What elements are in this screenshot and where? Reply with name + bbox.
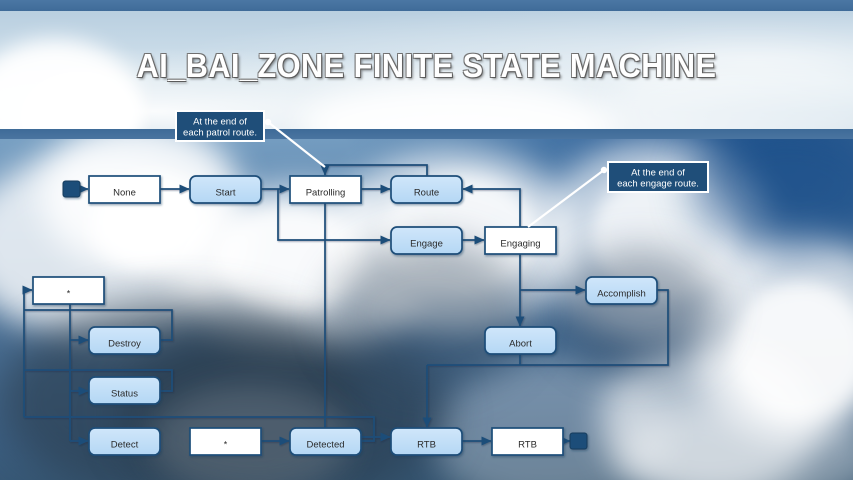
node-engaging-label: Engaging [500,239,540,250]
node-accomplish[interactable]: Accomplish [586,277,657,304]
edge-return-wildcard [24,290,32,417]
node-engage-label: Engage [410,239,443,250]
callout-engage-line1: At the end of [631,168,685,179]
node-none-label: None [113,188,136,199]
node-abort[interactable]: Abort [485,327,556,354]
callout-engage-leader-line [528,170,604,227]
callout-patrol-leader-dot [265,119,271,125]
node-wildcard-1[interactable]: * [33,277,104,304]
node-start[interactable]: Start [190,176,261,203]
node-route-label: Route [414,188,439,199]
edge-engaging-route [463,189,520,227]
node-destroy-label: Destroy [108,339,141,350]
edge-route-patrolling [325,165,427,176]
slide-canvas: AI_BAI_ZONE FINITE STATE MACHINE [0,0,853,480]
node-wildcard-2[interactable]: * [190,428,261,455]
node-abort-label: Abort [509,339,532,350]
node-engage[interactable]: Engage [391,227,462,254]
callout-engage-leader-dot [601,167,607,173]
callout-patrol-leader-line [268,122,325,167]
node-detected-label: Detected [306,440,344,451]
node-patrolling[interactable]: Patrolling [290,176,361,203]
callout-patrol[interactable]: At the end of each patrol route. [176,111,325,167]
node-status[interactable]: Status [89,377,160,404]
node-wildcard-1-label: * [67,288,71,298]
node-destroy[interactable]: Destroy [89,327,160,354]
callout-patrol-line2: each patrol route. [183,128,257,139]
node-start-label: Start [215,188,235,199]
node-detect-label: Detect [111,440,139,451]
end-terminal[interactable] [570,433,587,449]
state-machine-diagram: None Start Patrolling Route Engage Engag… [0,0,853,480]
node-rtb-b[interactable]: RTB [492,428,563,455]
node-rtb-a-label: RTB [417,440,436,451]
callout-engage-line2: each engage route. [617,179,699,190]
node-engaging[interactable]: Engaging [485,227,556,254]
node-accomplish-label: Accomplish [597,289,646,300]
callout-patrol-line1: At the end of [193,117,247,128]
node-rtb-b-label: RTB [518,440,537,451]
node-none[interactable]: None [89,176,160,203]
node-wildcard-2-label: * [224,439,228,449]
node-detected[interactable]: Detected [290,428,361,455]
start-terminal[interactable] [63,181,80,197]
node-route[interactable]: Route [391,176,462,203]
node-status-label: Status [111,389,138,400]
node-rtb-a[interactable]: RTB [391,428,462,455]
node-patrolling-label: Patrolling [306,188,346,199]
node-detect[interactable]: Detect [89,428,160,455]
callout-engage[interactable]: At the end of each engage route. [528,162,708,227]
